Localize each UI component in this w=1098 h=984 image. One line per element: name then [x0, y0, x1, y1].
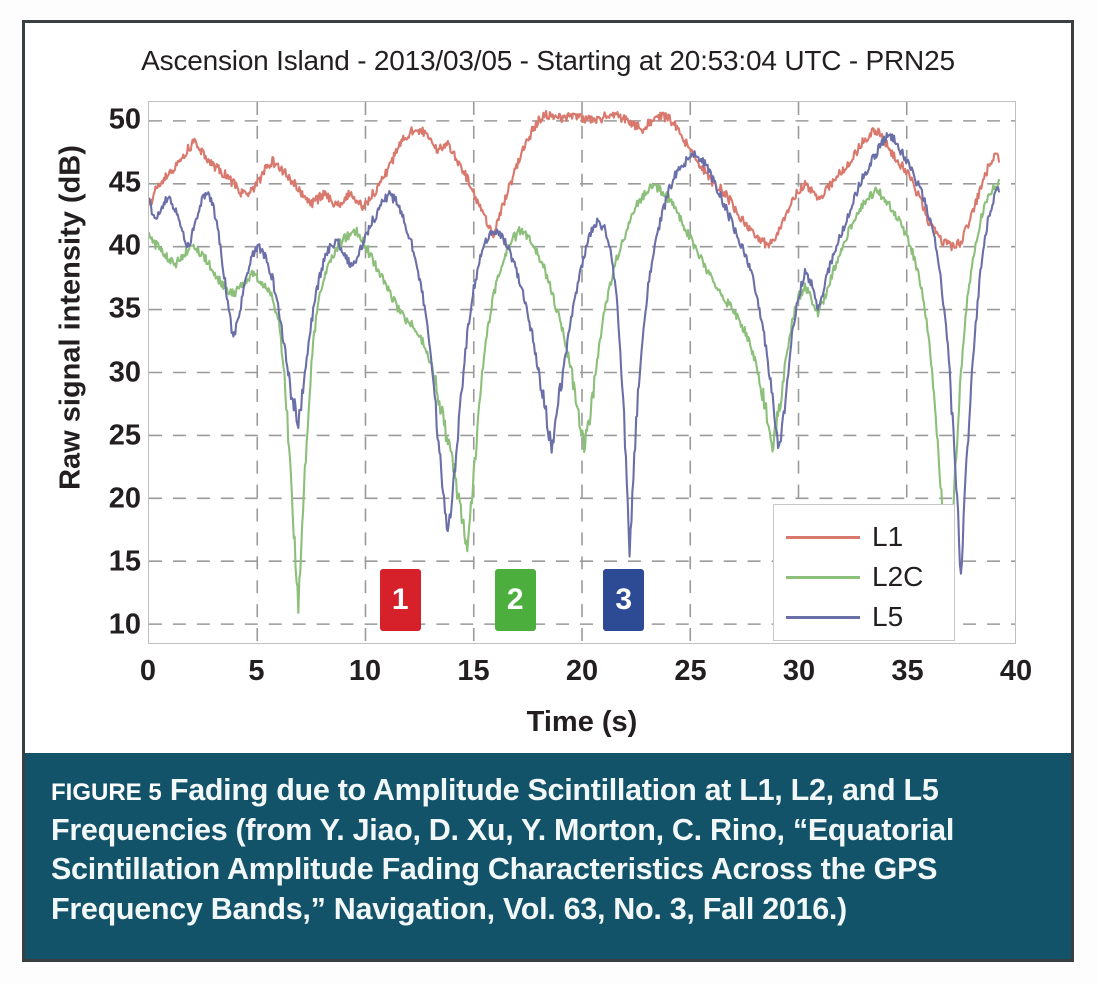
x-tick-label: 5 — [217, 657, 297, 686]
legend-label: L1 — [872, 523, 903, 551]
legend-label: L5 — [872, 603, 903, 631]
legend-label: L2C — [872, 563, 923, 591]
x-tick-label: 15 — [434, 657, 514, 686]
y-tick-layer: 101520253035404550 — [55, 101, 141, 644]
fade-marker-2: 2 — [495, 569, 536, 631]
x-tick-label: 40 — [976, 657, 1056, 686]
x-tick-label: 20 — [542, 657, 622, 686]
x-tick-label: 10 — [325, 657, 405, 686]
legend-swatch-l1 — [786, 536, 860, 539]
figure-caption: FIGURE 5 Fading due to Amplitude Scintil… — [51, 771, 1045, 930]
x-tick-label: 30 — [759, 657, 839, 686]
legend-swatch-l2c — [786, 576, 860, 579]
legend-item-l2c[interactable]: L2C — [774, 555, 956, 599]
y-tick-label: 30 — [71, 358, 141, 387]
chart-title: Ascension Island - 2013/03/05 - Starting… — [25, 45, 1071, 77]
figure-root: Ascension Island - 2013/03/05 - Starting… — [0, 0, 1098, 984]
legend-swatch-l5 — [786, 616, 860, 619]
y-tick-label: 45 — [71, 169, 141, 198]
x-tick-layer: 0510152025303540 — [148, 657, 1016, 697]
figure-caption-body: Fading due to Amplitude Scintillation at… — [51, 773, 954, 926]
y-tick-label: 35 — [71, 295, 141, 324]
x-tick-label: 0 — [108, 657, 188, 686]
y-tick-label: 40 — [71, 232, 141, 261]
legend-item-l1[interactable]: L1 — [774, 515, 956, 559]
figure-frame: Ascension Island - 2013/03/05 - Starting… — [22, 20, 1074, 962]
y-tick-label: 15 — [71, 547, 141, 576]
legend-item-l5[interactable]: L5 — [774, 595, 956, 639]
chart-legend: L1L2CL5 — [773, 504, 955, 641]
figure-caption-tag: FIGURE 5 — [51, 779, 162, 806]
chart-panel: Ascension Island - 2013/03/05 - Starting… — [25, 23, 1071, 753]
fade-marker-3: 3 — [603, 569, 644, 631]
y-tick-label: 25 — [71, 421, 141, 450]
x-tick-label: 35 — [868, 657, 948, 686]
series-line-l1 — [149, 111, 999, 250]
y-tick-label: 10 — [71, 611, 141, 640]
y-tick-label: 50 — [71, 105, 141, 134]
x-axis-label: Time (s) — [148, 706, 1016, 739]
y-tick-label: 20 — [71, 484, 141, 513]
x-tick-label: 25 — [651, 657, 731, 686]
fade-marker-1: 1 — [380, 569, 421, 631]
figure-caption-band: FIGURE 5 Fading due to Amplitude Scintil… — [25, 753, 1071, 959]
